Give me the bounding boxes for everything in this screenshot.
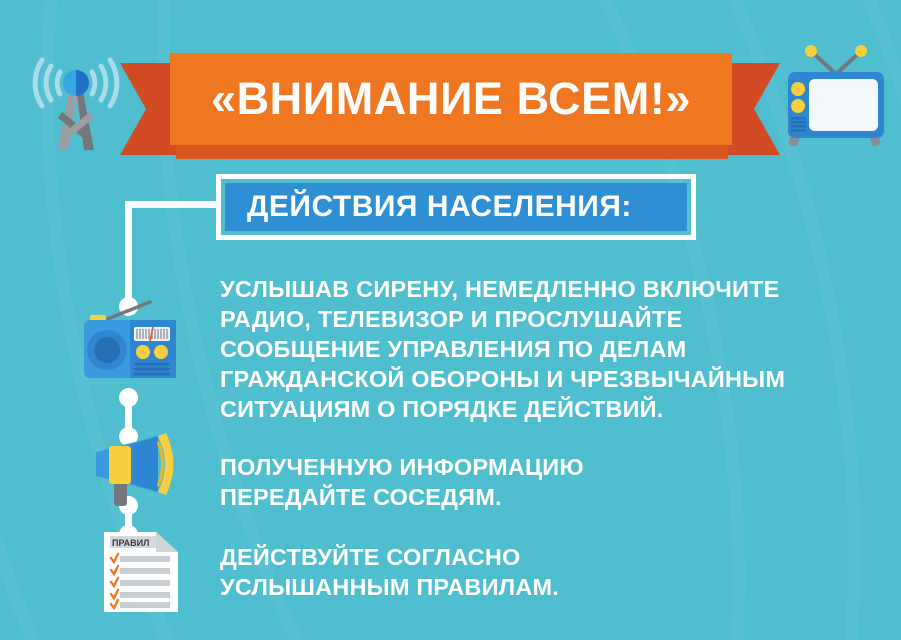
title-banner: «ВНИМАНИЕ ВСЕМ!» (120, 45, 780, 155)
rules-document-icon: ПРАВИЛ (90, 528, 194, 616)
section-heading-text: ДЕЙСТВИЯ НАСЕЛЕНИЯ: (247, 190, 632, 224)
instruction-paragraph-3: ДЕЙСТВУЙТЕ СОГЛАСНО УСЛЫШАННЫМ ПРАВИЛАМ. (220, 542, 830, 602)
poster-title: «ВНИМАНИЕ ВСЕМ!» (211, 73, 691, 125)
document-label: ПРАВИЛ (112, 538, 149, 548)
section-heading-box: ДЕЙСТВИЯ НАСЕЛЕНИЯ: (216, 174, 696, 240)
section-heading-inner: ДЕЙСТВИЯ НАСЕЛЕНИЯ: (225, 183, 687, 231)
instruction-paragraph-1: УСЛЫШАВ СИРЕНУ, НЕМЕДЛЕННО ВКЛЮЧИТЕ РАДИ… (220, 274, 830, 424)
television-icon (782, 42, 890, 160)
banner-front: «ВНИМАНИЕ ВСЕМ!» (170, 53, 732, 145)
radio-tower-icon (22, 38, 130, 160)
radio-receiver-icon (74, 300, 186, 382)
connector-vertical (125, 201, 132, 303)
connector-horizontal (125, 201, 220, 208)
instruction-paragraph-2: ПОЛУЧЕННУЮ ИНФОРМАЦИЮ ПЕРЕДАЙТЕ СОСЕДЯМ. (220, 452, 830, 512)
megaphone-icon (80, 424, 192, 512)
poster-canvas: «ВНИМАНИЕ ВСЕМ!» ДЕЙСТВИЯ НАСЕЛЕНИЯ: (0, 0, 901, 640)
